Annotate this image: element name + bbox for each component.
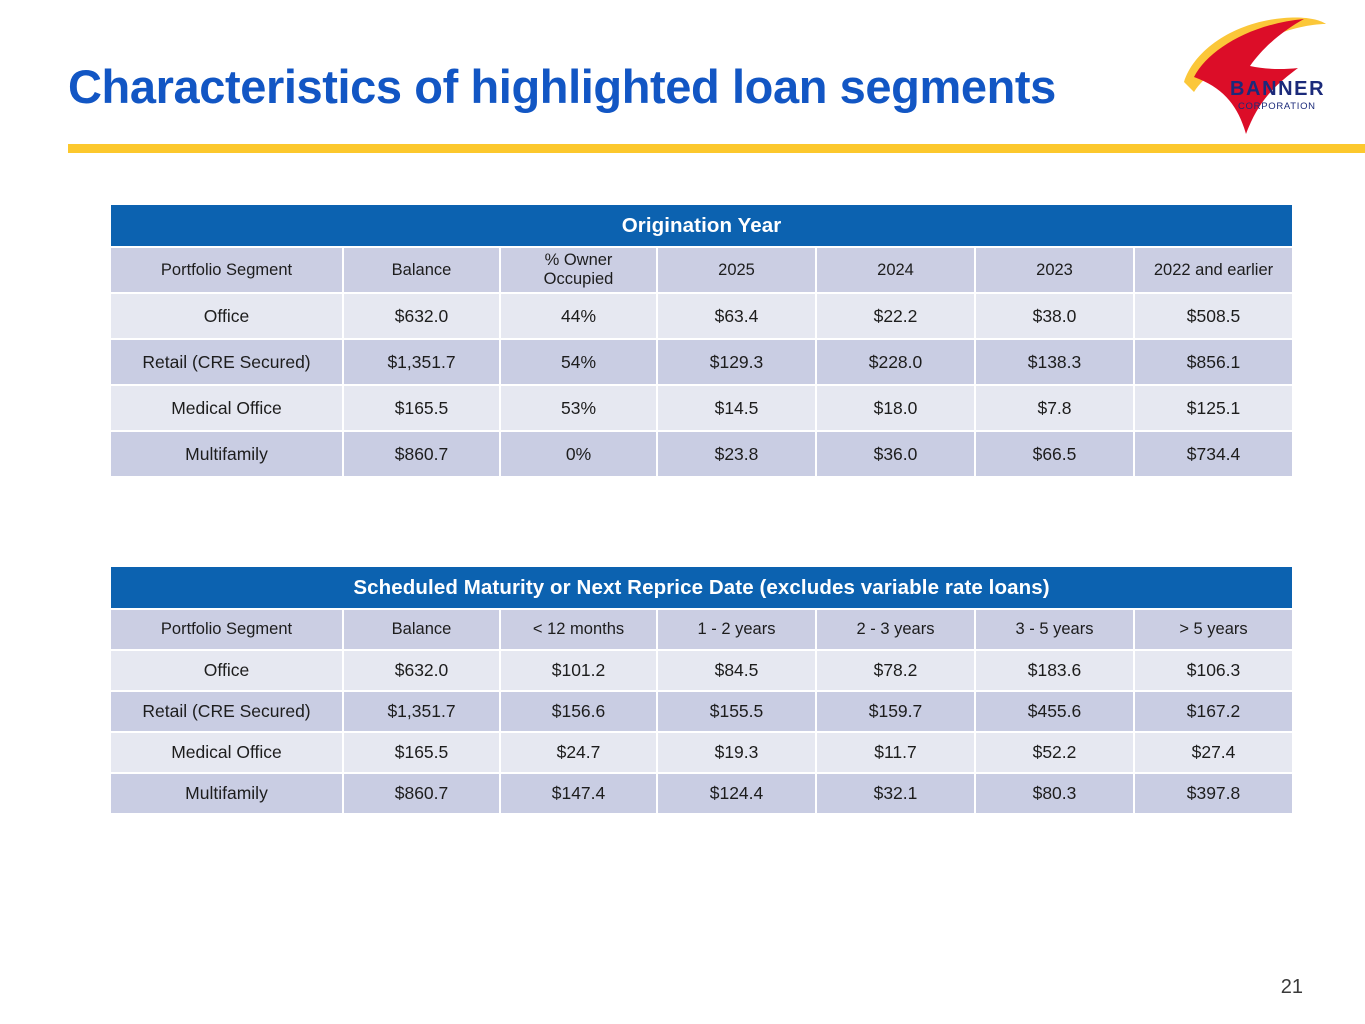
origination-year-table-block: Origination Year Portfolio Segment Balan… [109,203,1285,478]
cell-2024: $36.0 [817,432,974,476]
cell-balance: $860.7 [344,774,499,813]
column-header-3-5-years: 3 - 5 years [976,610,1133,649]
cell-balance: $860.7 [344,432,499,476]
cell-2022-and-earlier: $734.4 [1135,432,1292,476]
table-column-header-row: Portfolio Segment Balance < 12 months 1 … [111,610,1292,649]
row-segment-label: Office [111,651,342,690]
cell-1-2-years: $84.5 [658,651,815,690]
cell-under-12-months: $101.2 [501,651,656,690]
cell-1-2-years: $19.3 [658,733,815,772]
cell-balance: $1,351.7 [344,692,499,731]
column-header-portfolio-segment: Portfolio Segment [111,248,342,292]
column-header-balance: Balance [344,610,499,649]
cell-over-5-years: $106.3 [1135,651,1292,690]
cell-2022-and-earlier: $508.5 [1135,294,1292,338]
cell-owner-occupied: 53% [501,386,656,430]
row-segment-label: Retail (CRE Secured) [111,340,342,384]
table-banner-title: Scheduled Maturity or Next Reprice Date … [111,567,1292,608]
cell-2-3-years: $11.7 [817,733,974,772]
table-row: Medical Office $165.5 53% $14.5 $18.0 $7… [111,386,1292,430]
column-header-2023: 2023 [976,248,1133,292]
column-header-under-12-months: < 12 months [501,610,656,649]
column-header-owner-occupied: % OwnerOccupied [501,248,656,292]
column-header-2-3-years: 2 - 3 years [817,610,974,649]
table-row: Retail (CRE Secured) $1,351.7 54% $129.3… [111,340,1292,384]
cell-over-5-years: $27.4 [1135,733,1292,772]
table-column-header-row: Portfolio Segment Balance % OwnerOccupie… [111,248,1292,292]
cell-3-5-years: $52.2 [976,733,1133,772]
cell-balance: $1,351.7 [344,340,499,384]
cell-2-3-years: $32.1 [817,774,974,813]
column-header-2024: 2024 [817,248,974,292]
page-title: Characteristics of highlighted loan segm… [68,62,1056,111]
cell-2025: $14.5 [658,386,815,430]
table-banner-row: Origination Year [111,205,1292,246]
cell-2022-and-earlier: $856.1 [1135,340,1292,384]
cell-2024: $22.2 [817,294,974,338]
cell-1-2-years: $124.4 [658,774,815,813]
column-header-1-2-years: 1 - 2 years [658,610,815,649]
cell-owner-occupied: 0% [501,432,656,476]
cell-2025: $23.8 [658,432,815,476]
slide-header: Characteristics of highlighted loan segm… [0,0,1365,160]
row-segment-label: Multifamily [111,774,342,813]
banner-corporation-logo: BANNER CORPORATION [1176,14,1328,139]
scheduled-maturity-table-block: Scheduled Maturity or Next Reprice Date … [109,565,1285,815]
cell-2022-and-earlier: $125.1 [1135,386,1292,430]
cell-2-3-years: $159.7 [817,692,974,731]
logo-wordmark: BANNER [1230,78,1325,100]
column-header-2022-and-earlier: 2022 and earlier [1135,248,1292,292]
cell-balance: $165.5 [344,386,499,430]
cell-under-12-months: $156.6 [501,692,656,731]
column-header-portfolio-segment: Portfolio Segment [111,610,342,649]
cell-2023: $7.8 [976,386,1133,430]
column-header-balance: Balance [344,248,499,292]
cell-2024: $228.0 [817,340,974,384]
row-segment-label: Retail (CRE Secured) [111,692,342,731]
cell-balance: $632.0 [344,294,499,338]
origination-year-table: Origination Year Portfolio Segment Balan… [109,203,1294,478]
cell-2025: $129.3 [658,340,815,384]
cell-under-12-months: $24.7 [501,733,656,772]
cell-3-5-years: $80.3 [976,774,1133,813]
row-segment-label: Multifamily [111,432,342,476]
cell-1-2-years: $155.5 [658,692,815,731]
row-segment-label: Office [111,294,342,338]
cell-owner-occupied: 54% [501,340,656,384]
cell-3-5-years: $455.6 [976,692,1133,731]
column-header-2025: 2025 [658,248,815,292]
row-segment-label: Medical Office [111,733,342,772]
table-row: Medical Office $165.5 $24.7 $19.3 $11.7 … [111,733,1292,772]
cell-2024: $18.0 [817,386,974,430]
table-row: Office $632.0 $101.2 $84.5 $78.2 $183.6 … [111,651,1292,690]
cell-2023: $138.3 [976,340,1133,384]
table-row: Multifamily $860.7 0% $23.8 $36.0 $66.5 … [111,432,1292,476]
cell-balance: $632.0 [344,651,499,690]
cell-2025: $63.4 [658,294,815,338]
column-header-over-5-years: > 5 years [1135,610,1292,649]
cell-3-5-years: $183.6 [976,651,1133,690]
cell-2023: $66.5 [976,432,1133,476]
title-underline-rule [68,144,1365,153]
logo-subtext: CORPORATION [1238,101,1316,112]
cell-owner-occupied: 44% [501,294,656,338]
table-row: Retail (CRE Secured) $1,351.7 $156.6 $15… [111,692,1292,731]
cell-over-5-years: $167.2 [1135,692,1292,731]
table-row: Multifamily $860.7 $147.4 $124.4 $32.1 $… [111,774,1292,813]
scheduled-maturity-table: Scheduled Maturity or Next Reprice Date … [109,565,1294,815]
table-banner-row: Scheduled Maturity or Next Reprice Date … [111,567,1292,608]
row-segment-label: Medical Office [111,386,342,430]
cell-2023: $38.0 [976,294,1133,338]
cell-over-5-years: $397.8 [1135,774,1292,813]
cell-under-12-months: $147.4 [501,774,656,813]
table-row: Office $632.0 44% $63.4 $22.2 $38.0 $508… [111,294,1292,338]
cell-2-3-years: $78.2 [817,651,974,690]
page-number: 21 [1281,976,1303,999]
table-banner-title: Origination Year [111,205,1292,246]
cell-balance: $165.5 [344,733,499,772]
